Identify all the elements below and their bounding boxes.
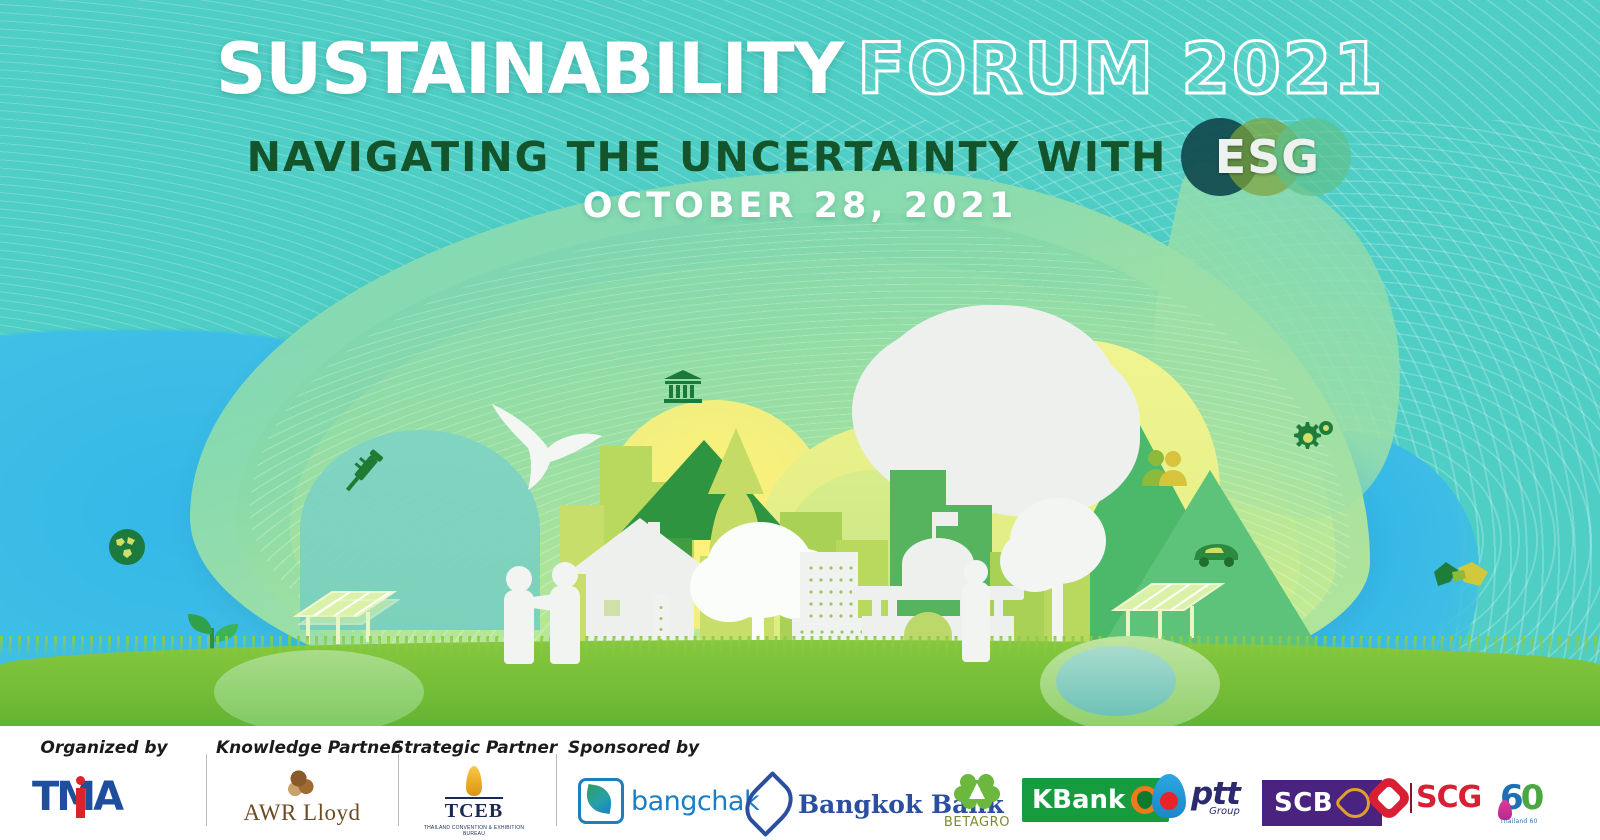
- museum-icon: [662, 368, 704, 404]
- event-date-label: OCTOBER 28, 2021: [583, 186, 1017, 226]
- tceb-logo-mark: TCEB THAILAND CONVENTION & EXHIBITION BU…: [414, 766, 534, 832]
- betagro-triangle-cutout: [969, 783, 985, 799]
- betagro-logo-text: BETAGRO: [938, 815, 1016, 830]
- tma-accent-bar: [76, 788, 85, 818]
- tceb-logo-subtext: THAILAND CONVENTION & EXHIBITION BUREAU: [414, 825, 534, 837]
- anniversary-number-0: 0: [1521, 778, 1542, 818]
- gears-icon: [1290, 418, 1336, 458]
- parliament-dome: [902, 538, 974, 590]
- scb-logo-text: SCB: [1274, 788, 1333, 818]
- tma-accent-dot: [76, 776, 85, 785]
- divider-1: [206, 754, 207, 826]
- awr-lloyd-logo-mark: AWR Lloyd: [232, 768, 372, 832]
- person-1-head: [506, 566, 532, 592]
- group-label-sponsored-by: Sponsored by: [568, 738, 699, 758]
- house-roof-icon: [566, 518, 714, 574]
- title-solid: SUSTAINABILITY: [216, 28, 843, 110]
- title-outline: FORUM 2021: [857, 28, 1384, 110]
- sustainability-forum-poster: SUSTAINABILITYFORUM 2021 NAVIGATING THE …: [0, 0, 1600, 840]
- parliament-roof: [852, 586, 1024, 600]
- logo-betagro[interactable]: BETAGRO: [938, 774, 1016, 830]
- car-icon: [1190, 540, 1242, 568]
- divider-3: [556, 754, 557, 826]
- esg-badge: ESG: [1181, 118, 1353, 196]
- group-label-organized-by: Organized by: [20, 738, 188, 758]
- tceb-logo-text: TCEB: [445, 797, 503, 823]
- tceb-flame-icon: [466, 766, 482, 796]
- scg-divider: [1410, 783, 1412, 813]
- logo-tceb[interactable]: TCEB THAILAND CONVENTION & EXHIBITION BU…: [412, 766, 536, 832]
- bush-left: [214, 650, 424, 726]
- logo-tma[interactable]: TMA: [28, 774, 186, 820]
- awr-lloyd-logo-text: AWR Lloyd: [232, 800, 372, 826]
- page-subtitle: NAVIGATING THE UNCERTAINTY WITH ESG: [0, 118, 1600, 196]
- scg-logo-text: SCG: [1416, 780, 1481, 815]
- group-knowledge-partner: Knowledge Partner: [216, 738, 384, 758]
- handshake-icon: [1432, 556, 1490, 594]
- betagro-logo-mark: BETAGRO: [938, 774, 1016, 830]
- bangchak-leaf-shape: [584, 784, 614, 814]
- ptt-logo-mark: ptt Group: [1152, 774, 1240, 818]
- event-date: OCTOBER 28, 2021: [0, 186, 1600, 226]
- person-3-head: [964, 560, 988, 584]
- house-chimney: [648, 522, 660, 568]
- divider-2: [398, 754, 399, 826]
- bangchak-logo-text: bangchak: [631, 786, 759, 817]
- group-sponsored-by: Sponsored by: [568, 738, 699, 758]
- sponsor-bar: Organized by TMA Knowledge Partner AWR L…: [0, 726, 1600, 840]
- logo-scb[interactable]: SCB: [1262, 780, 1382, 826]
- person-2-head: [552, 562, 578, 588]
- kbank-logo-mark: KBank: [1022, 778, 1169, 822]
- anniversary-logo-mark: 60 Thailand 60: [1500, 778, 1584, 830]
- ptt-flame-icon: [1152, 774, 1186, 818]
- bangchak-leaf-icon: [578, 778, 624, 824]
- group-label-knowledge-partner: Knowledge Partner: [216, 738, 384, 758]
- anniversary-subtext: Thailand 60: [1500, 818, 1584, 825]
- logo-bangchak[interactable]: bangchak: [578, 778, 759, 824]
- page-title: SUSTAINABILITYFORUM 2021: [0, 28, 1600, 110]
- bird-icon: [488, 396, 606, 492]
- scb-logo-mark: SCB: [1262, 780, 1382, 826]
- globe-icon: [108, 528, 146, 566]
- scg-emblem-inner: [1376, 785, 1401, 810]
- tma-logo-mark: TMA: [32, 774, 182, 820]
- scg-emblem-icon: [1365, 773, 1413, 821]
- temple-spire-top: [708, 428, 764, 494]
- person-3-body: [962, 582, 990, 662]
- logo-anniversary-60[interactable]: 60 Thailand 60: [1500, 778, 1584, 830]
- parliament-flag: [936, 512, 958, 526]
- subtitle-text: NAVIGATING THE UNCERTAINTY WITH: [247, 133, 1168, 181]
- group-organized-by: Organized by: [20, 738, 188, 758]
- logo-ptt[interactable]: ptt Group: [1152, 774, 1240, 818]
- bush-blue: [1056, 646, 1176, 716]
- logo-kbank[interactable]: KBank: [1022, 778, 1169, 822]
- ptt-flame-red-dot: [1160, 792, 1178, 810]
- anniversary-flame-icon: [1498, 800, 1512, 820]
- esg-badge-label: ESG: [1181, 118, 1353, 196]
- group-strategic-partner: Strategic Partner: [392, 738, 554, 758]
- logo-awr-lloyd[interactable]: AWR Lloyd: [228, 768, 376, 832]
- betagro-clover-icon: [954, 774, 1000, 814]
- people-group-icon: [1140, 448, 1188, 488]
- house-window: [604, 600, 620, 616]
- syringe-icon: [330, 443, 392, 505]
- logo-scg[interactable]: SCG: [1372, 780, 1481, 815]
- scg-logo-mark: SCG: [1372, 780, 1481, 815]
- kbank-seed-inner: [1137, 791, 1153, 809]
- kbank-logo-text: KBank: [1032, 785, 1125, 815]
- bangchak-logo-mark: bangchak: [578, 778, 759, 824]
- grass-blades: [0, 636, 1600, 658]
- awr-dragon-icon: [285, 768, 319, 798]
- group-label-strategic-partner: Strategic Partner: [392, 738, 554, 758]
